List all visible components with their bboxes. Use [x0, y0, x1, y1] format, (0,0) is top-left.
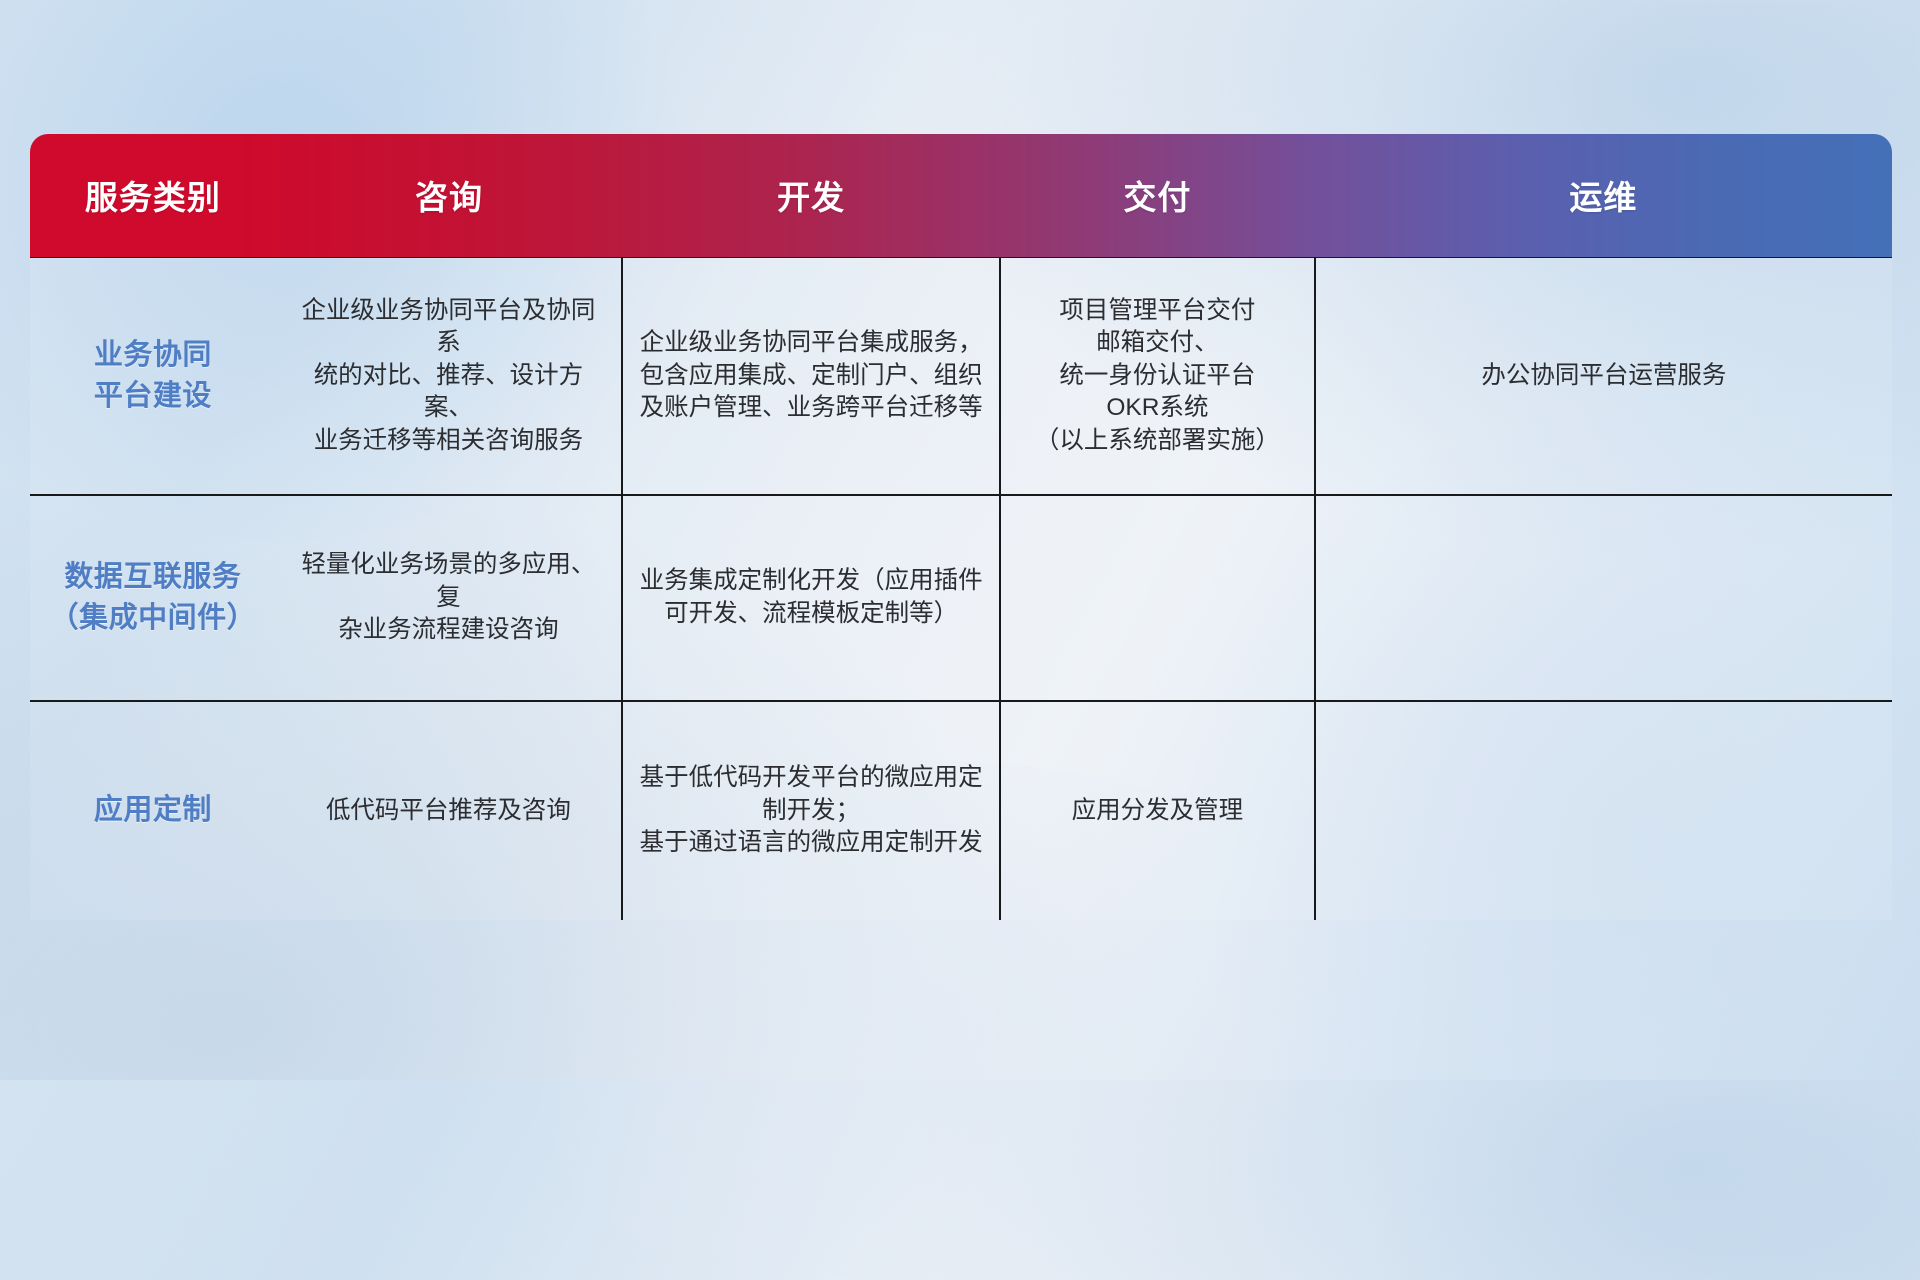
table-body: 业务协同 平台建设 企业级业务协同平台及协同系 统的对比、推荐、设计方案、 业务… — [30, 257, 1892, 920]
cell-delivery-row-2 — [1000, 495, 1315, 701]
header-label-development: 开发 — [622, 171, 1000, 219]
table-row: 业务协同 平台建设 企业级业务协同平台及协同系 统的对比、推荐、设计方案、 业务… — [30, 257, 1892, 495]
cell-operations-row-2 — [1315, 495, 1892, 701]
cell-operations-row-1: 办公协同平台运营服务 — [1315, 257, 1892, 495]
table-row: 数据互联服务 （集成中间件） 轻量化业务场景的多应用、复 杂业务流程建设咨询 业… — [30, 495, 1892, 701]
cell-consulting-row-1: 企业级业务协同平台及协同系 统的对比、推荐、设计方案、 业务迁移等相关咨询服务 — [276, 257, 622, 495]
cell-operations-row-3 — [1315, 701, 1892, 920]
header-cell-delivery: 交付 — [1000, 134, 1315, 257]
service-matrix-table-wrapper: 服务类别 咨询 开发 交付 运维 — [30, 134, 1892, 920]
page-canvas: 服务类别 咨询 开发 交付 运维 — [0, 0, 1920, 1080]
row-label-application-customization: 应用定制 — [30, 701, 276, 920]
row-label-business-collaboration-platform: 业务协同 平台建设 — [30, 257, 276, 495]
header-cell-development: 开发 — [622, 134, 1000, 257]
header-cell-operations: 运维 — [1315, 134, 1892, 257]
header-cell-consulting: 咨询 — [276, 134, 622, 257]
header-cell-service-category: 服务类别 — [30, 134, 276, 257]
cell-delivery-row-1: 项目管理平台交付 邮箱交付、 统一身份认证平台 OKR系统 （以上系统部署实施） — [1000, 257, 1315, 495]
cell-development-row-2: 业务集成定制化开发（应用插件 可开发、流程模板定制等） — [622, 495, 1000, 701]
table-header: 服务类别 咨询 开发 交付 运维 — [30, 134, 1892, 257]
cell-consulting-row-3: 低代码平台推荐及咨询 — [276, 701, 622, 920]
header-label-delivery: 交付 — [1000, 171, 1315, 219]
header-row: 服务类别 咨询 开发 交付 运维 — [30, 134, 1892, 257]
table-row: 应用定制 低代码平台推荐及咨询 基于低代码开发平台的微应用定 制开发； 基于通过… — [30, 701, 1892, 920]
cell-delivery-row-3: 应用分发及管理 — [1000, 701, 1315, 920]
cell-consulting-row-2: 轻量化业务场景的多应用、复 杂业务流程建设咨询 — [276, 495, 622, 701]
service-matrix-table: 服务类别 咨询 开发 交付 运维 — [30, 134, 1892, 920]
header-label-consulting: 咨询 — [276, 171, 622, 219]
cell-development-row-1: 企业级业务协同平台集成服务， 包含应用集成、定制门户、组织 及账户管理、业务跨平… — [622, 257, 1000, 495]
row-label-data-interconnect-service: 数据互联服务 （集成中间件） — [30, 495, 276, 701]
header-label-operations: 运维 — [1315, 171, 1892, 219]
cell-development-row-3: 基于低代码开发平台的微应用定 制开发； 基于通过语言的微应用定制开发 — [622, 701, 1000, 920]
header-label-service-category: 服务类别 — [30, 171, 276, 219]
